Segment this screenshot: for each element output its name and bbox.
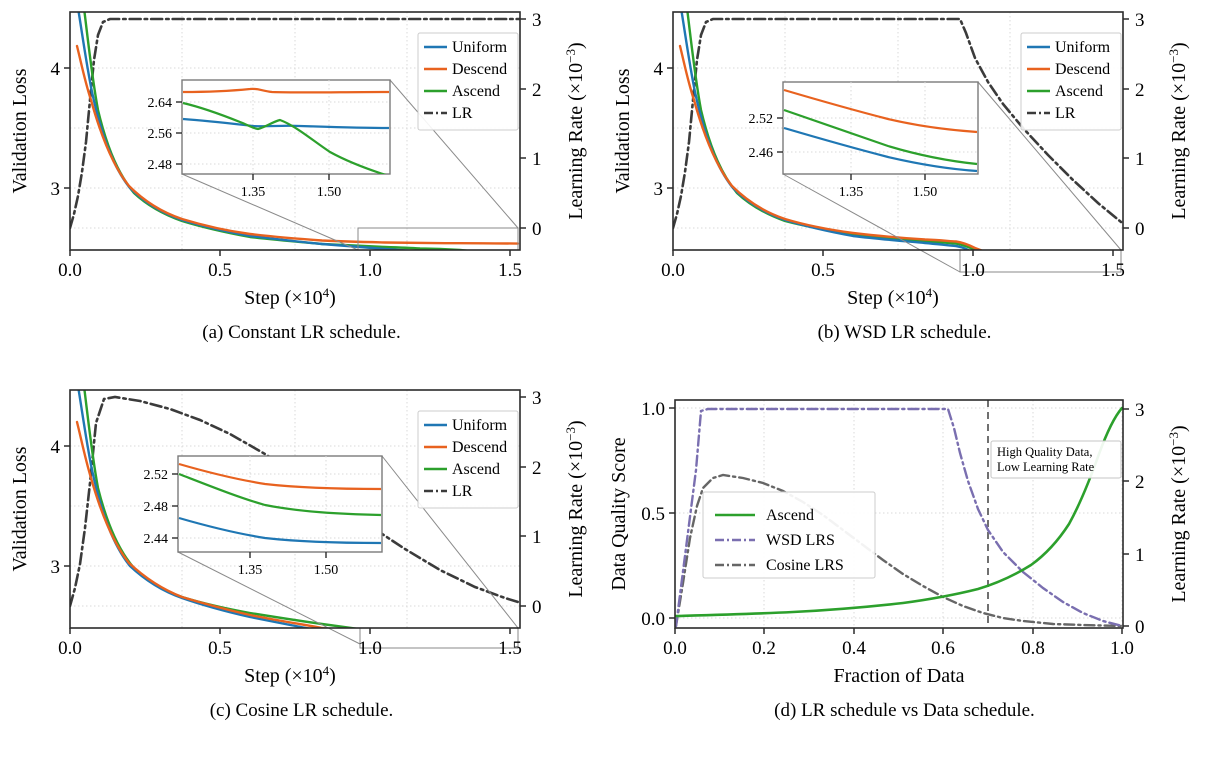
xtick-1: 0.5 (208, 260, 232, 281)
x-ticks (70, 628, 510, 634)
ytick-right-2: 2 (1135, 80, 1145, 101)
legend-label-ascend: Ascend (452, 83, 500, 100)
y-ticks-right (520, 397, 526, 606)
legend-label-lr: LR (452, 105, 473, 122)
ytick-left-0: 3 (51, 557, 61, 578)
ytick-right-3: 3 (532, 388, 542, 409)
caption-b: (b) WSD LR schedule. (603, 322, 1206, 344)
panel-b-plot: 2.46 2.52 1.35 1.50 0.0 0.5 1.0 1.5 4 3 (603, 0, 1206, 320)
ytick-right-2: 2 (532, 80, 542, 101)
x-ticks (70, 250, 510, 256)
xtick-5: 1.0 (1110, 638, 1134, 659)
panel-c-plot: 2.44 2.48 2.52 1.35 1.50 0.0 0.5 1.0 1.5 (0, 378, 603, 698)
y-axis-title-right: Learning Rate (×10−3) (1166, 42, 1190, 219)
legend-label-descend: Descend (452, 439, 507, 456)
inset-ytick-2: 2.52 (144, 468, 169, 483)
panel-a: 2.48 2.56 2.64 1.35 1.50 0.0 0.5 1.0 1.5 (0, 0, 603, 378)
inset-ytick-0: 2.44 (144, 532, 169, 547)
xtick-1: 0.5 (208, 638, 232, 659)
inset-ytick-1: 2.48 (144, 500, 169, 515)
legend-label-lr: LR (452, 483, 473, 500)
y-axis-title-right: Learning Rate (×10−3) (563, 420, 587, 597)
xtick-0: 0.0 (663, 638, 687, 659)
legend-label-ascend: Ascend (452, 461, 500, 478)
inset-ytick-0: 2.48 (148, 158, 173, 173)
legend-label-lr: LR (1055, 105, 1076, 122)
x-axis-title: Step (×104) (244, 285, 336, 309)
panel-a-plot: 2.48 2.56 2.64 1.35 1.50 0.0 0.5 1.0 1.5 (0, 0, 603, 320)
xtick-1: 0.2 (752, 638, 776, 659)
ytick-right-2: 2 (532, 458, 542, 479)
xtick-0: 0.0 (661, 260, 685, 281)
legend-label-wsd-lrs: WSD LRS (766, 532, 835, 549)
ytick-right-1: 1 (1135, 545, 1145, 566)
y-ticks-left (64, 68, 70, 188)
y-ticks-left (64, 446, 70, 566)
ytick-right-1: 1 (532, 527, 542, 548)
inset-ytick-1: 2.56 (148, 127, 173, 142)
inset-xtick-0: 1.35 (241, 185, 266, 200)
inset-ytick-0: 2.46 (749, 146, 774, 161)
x-axis-title: Step (×104) (847, 285, 939, 309)
legend[interactable]: Uniform Descend Ascend LR (418, 33, 518, 130)
xtick-2: 1.0 (358, 638, 382, 659)
y-ticks-right (1123, 409, 1129, 626)
inset-xtick-1: 1.50 (913, 185, 938, 200)
x-axis-title: Fraction of Data (833, 665, 964, 687)
legend[interactable]: Uniform Descend Ascend LR (418, 411, 518, 508)
y-ticks-right (1123, 19, 1129, 228)
inset-ytick-1: 2.52 (749, 112, 774, 127)
panel-b: 2.46 2.52 1.35 1.50 0.0 0.5 1.0 1.5 4 3 (603, 0, 1206, 378)
legend-label-uniform: Uniform (1055, 39, 1111, 56)
ytick-left-2: 1.0 (641, 399, 665, 420)
ytick-right-3: 3 (532, 10, 542, 31)
xtick-2: 1.0 (961, 260, 985, 281)
inset-ytick-2: 2.64 (148, 96, 173, 111)
y-axis-title-right: Learning Rate (×10−3) (563, 42, 587, 219)
y-axis-title-left: Validation Loss (612, 68, 634, 193)
ytick-left-0: 3 (654, 179, 664, 200)
figure-container: 2.48 2.56 2.64 1.35 1.50 0.0 0.5 1.0 1.5 (0, 0, 1206, 757)
xtick-3: 1.5 (498, 260, 522, 281)
y-axis-title-left: Validation Loss (9, 68, 31, 193)
caption-c: (c) Cosine LR schedule. (0, 700, 603, 722)
caption-d: (d) LR schedule vs Data schedule. (603, 700, 1206, 722)
panel-d-plot: High Quality Data, Low Learning Rate 0.0… (603, 378, 1206, 698)
ytick-left-0: 0.0 (641, 609, 665, 630)
panel-c: 2.44 2.48 2.52 1.35 1.50 0.0 0.5 1.0 1.5 (0, 378, 603, 756)
legend-label-uniform: Uniform (452, 39, 508, 56)
ytick-right-0: 0 (532, 219, 542, 240)
legend-label-descend: Descend (1055, 61, 1110, 78)
y-ticks-right (520, 19, 526, 228)
annotation-line-2: Low Learning Rate (997, 460, 1095, 474)
x-ticks (675, 628, 1122, 634)
ytick-left-1: 4 (654, 59, 664, 80)
legend-label-uniform: Uniform (452, 417, 508, 434)
ytick-right-1: 1 (532, 149, 542, 170)
legend[interactable]: Uniform Descend Ascend LR (1021, 33, 1121, 130)
ytick-left-1: 4 (51, 59, 61, 80)
inset-xtick-1: 1.50 (317, 185, 342, 200)
legend[interactable]: Ascend WSD LRS Cosine LRS (703, 492, 875, 578)
legend-label-descend: Descend (452, 61, 507, 78)
xtick-2: 0.4 (842, 638, 866, 659)
inset-xtick-0: 1.35 (839, 185, 864, 200)
annotation-line-1: High Quality Data, (997, 445, 1092, 459)
xtick-0: 0.0 (58, 260, 82, 281)
caption-a: (a) Constant LR schedule. (0, 322, 603, 344)
ytick-left-0: 3 (51, 179, 61, 200)
annotation-high-quality: High Quality Data, Low Learning Rate (991, 441, 1121, 478)
ytick-right-0: 0 (1135, 219, 1145, 240)
ytick-left-1: 4 (51, 437, 61, 458)
xtick-3: 0.6 (931, 638, 955, 659)
panel-d: High Quality Data, Low Learning Rate 0.0… (603, 378, 1206, 756)
y-axis-title-left: Data Quality Score (608, 437, 630, 590)
ytick-right-2: 2 (1135, 472, 1145, 493)
ytick-right-0: 0 (532, 597, 542, 618)
legend-label-ascend: Ascend (1055, 83, 1103, 100)
ytick-left-1: 0.5 (641, 504, 665, 525)
xtick-1: 0.5 (811, 260, 835, 281)
y-ticks-left (667, 68, 673, 188)
ytick-right-1: 1 (1135, 149, 1145, 170)
inset-xtick-1: 1.50 (314, 563, 339, 578)
xtick-2: 1.0 (358, 260, 382, 281)
ytick-right-0: 0 (1135, 617, 1145, 638)
x-axis-title: Step (×104) (244, 663, 336, 687)
ytick-right-3: 3 (1135, 400, 1145, 421)
legend-label-cosine-lrs: Cosine LRS (766, 557, 844, 574)
ytick-right-3: 3 (1135, 10, 1145, 31)
y-axis-title-left: Validation Loss (9, 446, 31, 571)
x-ticks (673, 250, 1113, 256)
legend-label-ascend: Ascend (766, 507, 814, 524)
xtick-3: 1.5 (1101, 260, 1125, 281)
xtick-4: 0.8 (1021, 638, 1045, 659)
xtick-0: 0.0 (58, 638, 82, 659)
y-axis-title-right: Learning Rate (×10−3) (1166, 425, 1190, 602)
xtick-3: 1.5 (498, 638, 522, 659)
y-ticks-left (669, 408, 675, 618)
inset-xtick-0: 1.35 (238, 563, 263, 578)
